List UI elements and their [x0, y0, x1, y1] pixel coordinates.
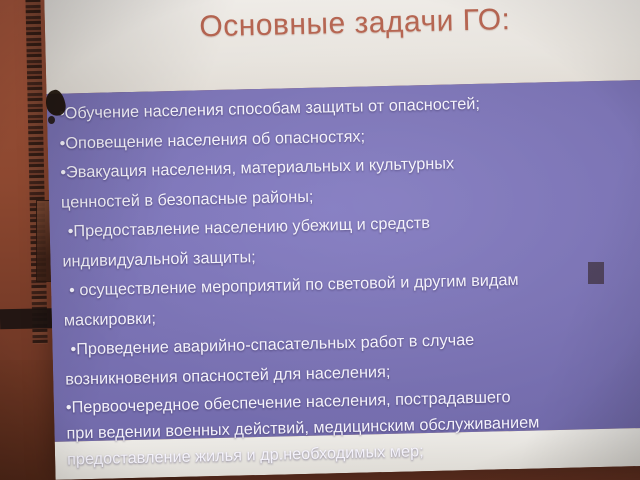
slide-bullet-list: •Обучение населения способам защиты от о…: [59, 85, 640, 472]
screenshot-root: Основные задачи ГО: •Обучение населения …: [0, 0, 640, 480]
right-edge-object-shadow: [588, 262, 604, 284]
foreground-object-shadow-small: [48, 116, 55, 124]
projected-slide: Основные задачи ГО: •Обучение населения …: [44, 0, 640, 480]
